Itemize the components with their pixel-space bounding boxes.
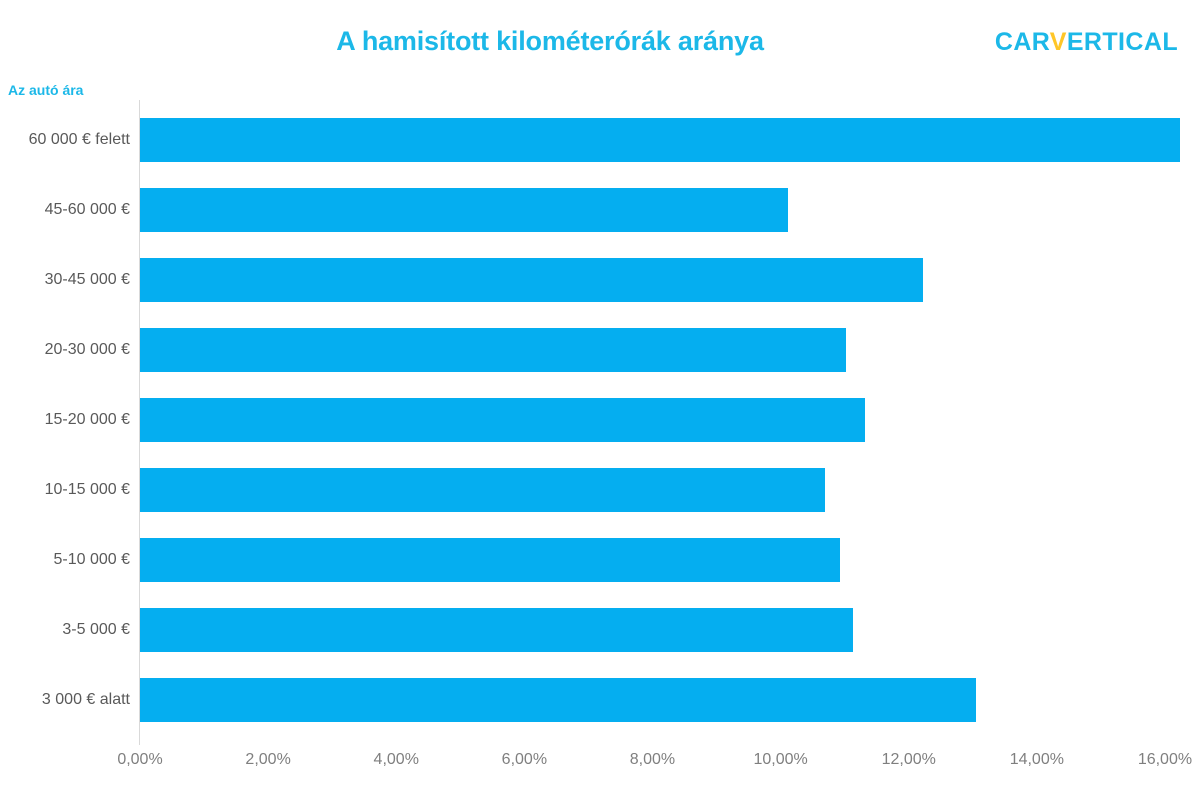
- bar[interactable]: [140, 468, 825, 512]
- bar-category-label: 10-15 000 €: [0, 468, 130, 512]
- bar-category-label: 3 000 € alatt: [0, 678, 130, 722]
- bar-row: 45-60 000 €: [0, 188, 1200, 258]
- x-axis: 0,00%2,00%4,00%6,00%8,00%10,00%12,00%14,…: [0, 745, 1200, 785]
- page-title: A hamisított kilométerórák aránya: [0, 26, 1100, 57]
- x-axis-tick-label: 12,00%: [849, 751, 969, 769]
- x-axis-tick-label: 6,00%: [464, 751, 584, 769]
- bar-category-label: 15-20 000 €: [0, 398, 130, 442]
- x-axis-tick-label: 0,00%: [80, 751, 200, 769]
- bar-category-label: 5-10 000 €: [0, 538, 130, 582]
- bar-row: 5-10 000 €: [0, 538, 1200, 608]
- chart-header: A hamisított kilométerórák aránya CARVER…: [0, 0, 1200, 78]
- x-axis-tick-label: 10,00%: [721, 751, 841, 769]
- bar-row: 20-30 000 €: [0, 328, 1200, 398]
- bar-row: 3 000 € alatt: [0, 678, 1200, 748]
- x-axis-tick-label: 14,00%: [977, 751, 1097, 769]
- bar-category-label: 60 000 € felett: [0, 118, 130, 162]
- bar[interactable]: [140, 118, 1180, 162]
- bar-track: [140, 678, 976, 722]
- bar[interactable]: [140, 258, 923, 302]
- bar-row: 15-20 000 €: [0, 398, 1200, 468]
- bar[interactable]: [140, 538, 840, 582]
- bar-row: 60 000 € felett: [0, 118, 1200, 188]
- bar-track: [140, 328, 846, 372]
- logo-accent-letter: V: [1050, 28, 1067, 56]
- bar-category-label: 30-45 000 €: [0, 258, 130, 302]
- bar-track: [140, 118, 1180, 162]
- bar[interactable]: [140, 188, 788, 232]
- bar-row: 10-15 000 €: [0, 468, 1200, 538]
- bar[interactable]: [140, 608, 853, 652]
- y-axis-title: Az autó ára: [8, 82, 83, 98]
- bar-track: [140, 188, 788, 232]
- bar-category-label: 45-60 000 €: [0, 188, 130, 232]
- bar-row: 30-45 000 €: [0, 258, 1200, 328]
- bar-category-label: 20-30 000 €: [0, 328, 130, 372]
- x-axis-tick-label: 4,00%: [336, 751, 456, 769]
- bar-row: 3-5 000 €: [0, 608, 1200, 678]
- bar-track: [140, 398, 865, 442]
- bar-track: [140, 538, 840, 582]
- logo-text-second: ERTICAL: [1067, 28, 1178, 56]
- bar-track: [140, 468, 825, 512]
- logo-text-first: CAR: [995, 28, 1050, 56]
- x-axis-tick-label: 8,00%: [592, 751, 712, 769]
- chart-plot-area: 60 000 € felett45-60 000 €30-45 000 €20-…: [0, 100, 1200, 745]
- x-axis-tick-label: 2,00%: [208, 751, 328, 769]
- bar-track: [140, 258, 923, 302]
- carvertical-logo: CARVERTICAL: [995, 28, 1178, 57]
- bar-category-label: 3-5 000 €: [0, 608, 130, 652]
- bar[interactable]: [140, 678, 976, 722]
- x-axis-tick-label: 16,00%: [1105, 751, 1200, 769]
- bar-track: [140, 608, 853, 652]
- bar[interactable]: [140, 328, 846, 372]
- bar[interactable]: [140, 398, 865, 442]
